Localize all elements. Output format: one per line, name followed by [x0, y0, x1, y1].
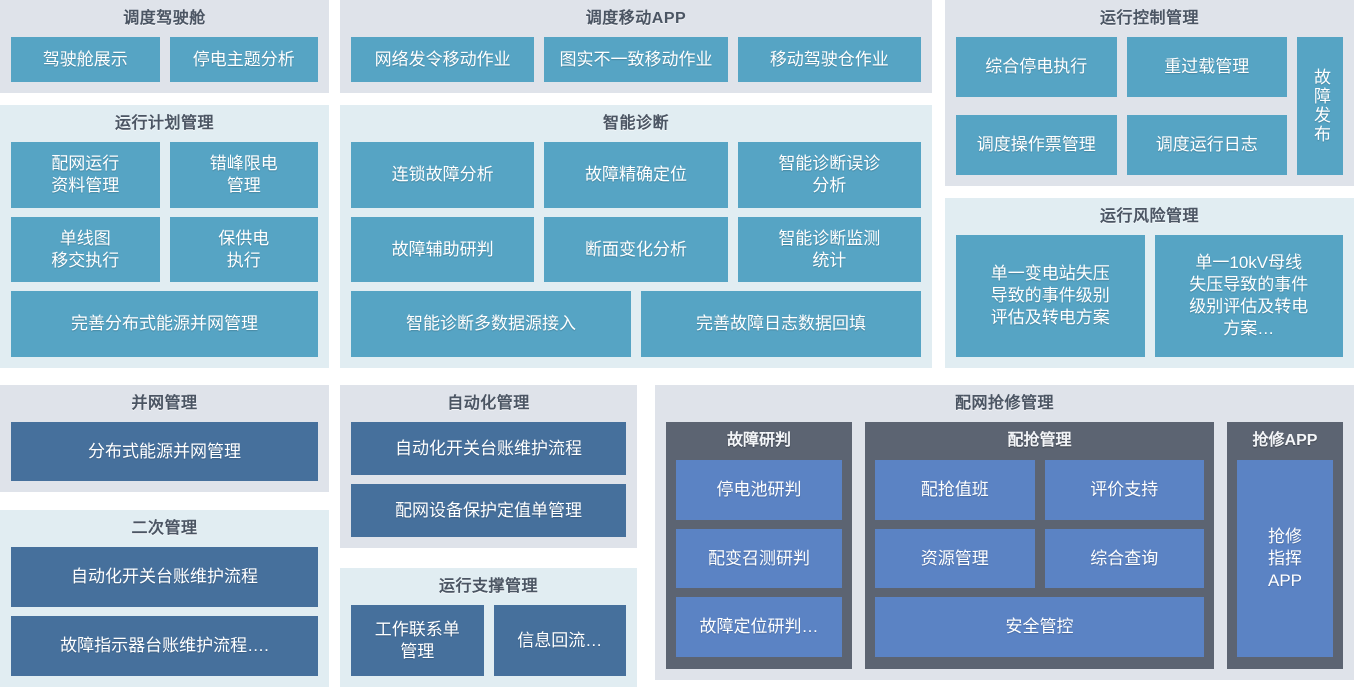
tile-network-dispatch-mobile-task[interactable]: 网络发令移动作业: [351, 37, 534, 82]
panel-title-secondary-management: 二次管理: [11, 518, 318, 540]
tile-intelligent-diagnosis-monitoring-statistics[interactable]: 智能诊断监测 统计: [738, 217, 921, 283]
tile-distributed-energy-grid-connection-management[interactable]: 分布式能源并网管理: [11, 422, 318, 481]
tile-dispatch-operation-log[interactable]: 调度运行日志: [1127, 115, 1288, 175]
panel-title-grid-connection: 并网管理: [11, 393, 318, 415]
tile-intelligent-diagnosis-multi-source-access[interactable]: 智能诊断多数据源接入: [351, 291, 631, 357]
tile-intelligent-diagnosis-misdiagnosis-analysis[interactable]: 智能诊断误诊 分析: [738, 142, 921, 208]
panel-title-operation-plan: 运行计划管理: [11, 113, 318, 135]
panel-secondary-management: 二次管理 自动化开关台账维护流程 故障指示器台账维护流程….: [0, 510, 329, 687]
diagram-canvas: 调度驾驶舱 驾驶舱展示 停电主题分析 调度移动APP 网络发令移动作业 图实不一…: [0, 0, 1354, 687]
tile-repair-duty[interactable]: 配抢值班: [875, 460, 1035, 520]
tile-10kv-busbar-voltage-loss-event-assessment[interactable]: 单一10kV母线 失压导致的事件 级别评估及转电 方案…: [1155, 235, 1344, 357]
tile-fault-indicator-ledger-maintenance-process[interactable]: 故障指示器台账维护流程….: [11, 616, 318, 676]
panel-distribution-repair: 配网抢修管理 故障研判 停电池研判 配变召测研判 故障定位研判… 配抢管理 配: [655, 385, 1354, 680]
tile-integrated-outage-execution[interactable]: 综合停电执行: [956, 37, 1117, 97]
panel-title-intelligent-diagnosis: 智能诊断: [351, 113, 921, 135]
panel-grid-connection: 并网管理 分布式能源并网管理: [0, 385, 329, 492]
tile-safety-control[interactable]: 安全管控: [875, 597, 1204, 657]
tile-guaranteed-power-supply-execution[interactable]: 保供电 执行: [170, 217, 319, 283]
tile-comprehensive-query[interactable]: 综合查询: [1045, 529, 1205, 589]
tile-distribution-operation-data-management[interactable]: 配网运行 资料管理: [11, 142, 160, 208]
panel-dispatch-cockpit: 调度驾驶舱 驾驶舱展示 停电主题分析: [0, 0, 329, 93]
panel-title-operation-control: 运行控制管理: [956, 8, 1343, 30]
tile-distribution-transformer-polling-judgement[interactable]: 配变召测研判: [676, 529, 842, 589]
tile-improve-fault-log-data-backfill[interactable]: 完善故障日志数据回填: [641, 291, 921, 357]
tile-outage-pool-judgement[interactable]: 停电池研判: [676, 460, 842, 520]
tile-peak-shaving-power-limit-management[interactable]: 错峰限电 管理: [170, 142, 319, 208]
tile-resource-management[interactable]: 资源管理: [875, 529, 1035, 589]
subpanel-title-repair-management: 配抢管理: [875, 430, 1204, 452]
panel-operation-plan: 运行计划管理 配网运行 资料管理 错峰限电 管理 单线图 移交执行 保供电 执行…: [0, 105, 329, 368]
tile-fault-assisted-judgement[interactable]: 故障辅助研判: [351, 217, 534, 283]
tile-automation-switch-ledger-maintenance-process-secondary[interactable]: 自动化开关台账维护流程: [11, 547, 318, 607]
tile-single-line-diagram-handover-execution[interactable]: 单线图 移交执行: [11, 217, 160, 283]
panel-title-operation-risk: 运行风险管理: [956, 206, 1343, 228]
panel-title-automation-management: 自动化管理: [351, 393, 626, 415]
tile-substation-voltage-loss-event-assessment[interactable]: 单一变电站失压 导致的事件级别 评估及转电方案: [956, 235, 1145, 357]
panel-title-operation-support: 运行支撑管理: [351, 576, 626, 598]
subpanel-repair-management: 配抢管理 配抢值班 评价支持 资源管理 综合查询 安全管控: [865, 422, 1214, 669]
tile-map-reality-mismatch-mobile-task[interactable]: 图实不一致移动作业: [544, 37, 727, 82]
tile-fault-publication-label: 故障发布: [1309, 68, 1331, 144]
tile-work-contact-sheet-management[interactable]: 工作联系单 管理: [351, 605, 484, 676]
tile-repair-command-app[interactable]: 抢修 指挥 APP: [1237, 460, 1333, 657]
tile-overload-management[interactable]: 重过载管理: [1127, 37, 1288, 97]
panel-dispatch-mobile-app: 调度移动APP 网络发令移动作业 图实不一致移动作业 移动驾驶仓作业: [340, 0, 932, 93]
panel-intelligent-diagnosis: 智能诊断 连锁故障分析 故障精确定位 智能诊断误诊 分析 故障辅助研判 断面变化…: [340, 105, 932, 368]
panel-automation-management: 自动化管理 自动化开关台账维护流程 配网设备保护定值单管理: [340, 385, 637, 548]
panel-title-dispatch-cockpit: 调度驾驶舱: [11, 8, 318, 30]
tile-cascading-fault-analysis[interactable]: 连锁故障分析: [351, 142, 534, 208]
panel-title-dispatch-mobile-app: 调度移动APP: [351, 8, 921, 30]
subpanel-title-fault-judgement: 故障研判: [676, 430, 842, 452]
panel-operation-control: 运行控制管理 综合停电执行 重过载管理 调度操作票管理 调度运行日志 故障发布: [945, 0, 1354, 186]
tile-precise-fault-location[interactable]: 故障精确定位: [544, 142, 727, 208]
tile-distribution-equipment-protection-setting-management[interactable]: 配网设备保护定值单管理: [351, 484, 626, 537]
panel-operation-support: 运行支撑管理 工作联系单 管理 信息回流…: [340, 568, 637, 687]
subpanel-title-repair-app: 抢修APP: [1237, 430, 1333, 452]
tile-fault-location-judgement[interactable]: 故障定位研判…: [676, 597, 842, 657]
tile-cockpit-display[interactable]: 驾驶舱展示: [11, 37, 160, 82]
tile-outage-theme-analysis[interactable]: 停电主题分析: [170, 37, 319, 82]
tile-information-backflow[interactable]: 信息回流…: [494, 605, 627, 676]
subpanel-fault-judgement: 故障研判 停电池研判 配变召测研判 故障定位研判…: [666, 422, 852, 669]
panel-operation-risk: 运行风险管理 单一变电站失压 导致的事件级别 评估及转电方案 单一10kV母线 …: [945, 198, 1354, 368]
tile-automation-switch-ledger-maintenance-process[interactable]: 自动化开关台账维护流程: [351, 422, 626, 475]
subpanel-repair-app: 抢修APP 抢修 指挥 APP: [1227, 422, 1343, 669]
tile-dispatch-operation-ticket-management[interactable]: 调度操作票管理: [956, 115, 1117, 175]
tile-fault-publication[interactable]: 故障发布: [1297, 37, 1343, 175]
tile-improve-distributed-energy-grid-connection-management[interactable]: 完善分布式能源并网管理: [11, 291, 318, 357]
panel-title-distribution-repair: 配网抢修管理: [666, 393, 1343, 415]
tile-evaluation-support[interactable]: 评价支持: [1045, 460, 1205, 520]
tile-section-change-analysis[interactable]: 断面变化分析: [544, 217, 727, 283]
tile-mobile-cockpit-task[interactable]: 移动驾驶仓作业: [738, 37, 921, 82]
